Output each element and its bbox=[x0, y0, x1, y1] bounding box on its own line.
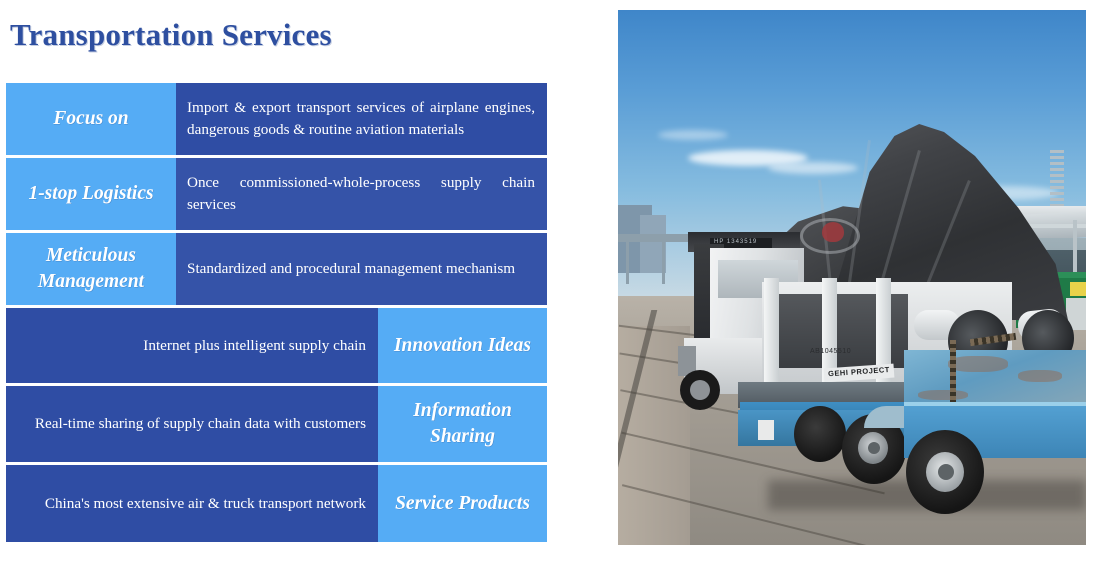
tarpaulin-logo-accent bbox=[822, 222, 844, 242]
row-description: Once commissioned-whole-process supply c… bbox=[176, 158, 547, 230]
row-label-meticulous-management: Meticulous Management bbox=[6, 233, 176, 305]
table-row: Focus on Import & export transport servi… bbox=[6, 83, 547, 155]
row-description-text: Once commissioned-whole-process supply c… bbox=[187, 172, 535, 215]
cradle-post bbox=[764, 278, 779, 390]
trailer-wheel-hub bbox=[938, 464, 954, 480]
services-table: Focus on Import & export transport servi… bbox=[6, 83, 547, 545]
deck-rust-patch bbox=[948, 356, 1008, 372]
table-row: China's most extensive air & truck trans… bbox=[6, 465, 547, 542]
trailer-wheel-hub bbox=[868, 442, 880, 454]
slide-root: Transportation Services Focus on Import … bbox=[0, 0, 1098, 566]
row-label-service-products: Service Products bbox=[378, 465, 547, 542]
china-post-truck-marking bbox=[1070, 282, 1086, 296]
page-title: Transportation Services bbox=[10, 17, 332, 53]
shed-column bbox=[662, 240, 665, 284]
table-row: 1-stop Logistics Once commissioned-whole… bbox=[6, 158, 547, 230]
row-description: Import & export transport services of ai… bbox=[176, 83, 547, 155]
cradle-marking-text: AB1045510 bbox=[810, 348, 890, 355]
deck-rust-patch bbox=[1018, 370, 1062, 382]
deck-rust-patch bbox=[918, 390, 968, 400]
cloud bbox=[768, 162, 858, 174]
row-label-innovation-ideas: Innovation Ideas bbox=[378, 308, 547, 383]
row-label-focus-on: Focus on bbox=[6, 83, 176, 155]
row-description: China's most extensive air & truck trans… bbox=[6, 465, 378, 542]
row-label-1-stop-logistics: 1-stop Logistics bbox=[6, 158, 176, 230]
row-description-text: Real-time sharing of supply chain data w… bbox=[17, 413, 366, 435]
row-description: Internet plus intelligent supply chain bbox=[6, 308, 378, 383]
truck-front-wheel-hub bbox=[690, 380, 710, 400]
trailer-wheel bbox=[794, 406, 846, 462]
row-description-text: Import & export transport services of ai… bbox=[187, 97, 535, 140]
row-description-text: Internet plus intelligent supply chain bbox=[17, 335, 366, 357]
row-description: Standardized and procedural management m… bbox=[176, 233, 547, 305]
row-label-information-sharing: Information Sharing bbox=[378, 386, 547, 462]
trailer-deck-edge bbox=[904, 402, 1086, 406]
table-row: Meticulous Management Standardized and p… bbox=[6, 233, 547, 305]
row-description: Real-time sharing of supply chain data w… bbox=[6, 386, 378, 462]
trailer-placard bbox=[758, 420, 774, 440]
table-row: Real-time sharing of supply chain data w… bbox=[6, 386, 547, 462]
transport-photo: CHINA POST HP 1343519 AB1045510 bbox=[618, 10, 1086, 545]
row-description-text: Standardized and procedural management m… bbox=[187, 258, 535, 280]
row-description-text: China's most extensive air & truck trans… bbox=[17, 493, 366, 515]
cloud bbox=[658, 130, 728, 140]
shed-column bbox=[626, 240, 629, 284]
table-row: Internet plus intelligent supply chain I… bbox=[6, 308, 547, 383]
